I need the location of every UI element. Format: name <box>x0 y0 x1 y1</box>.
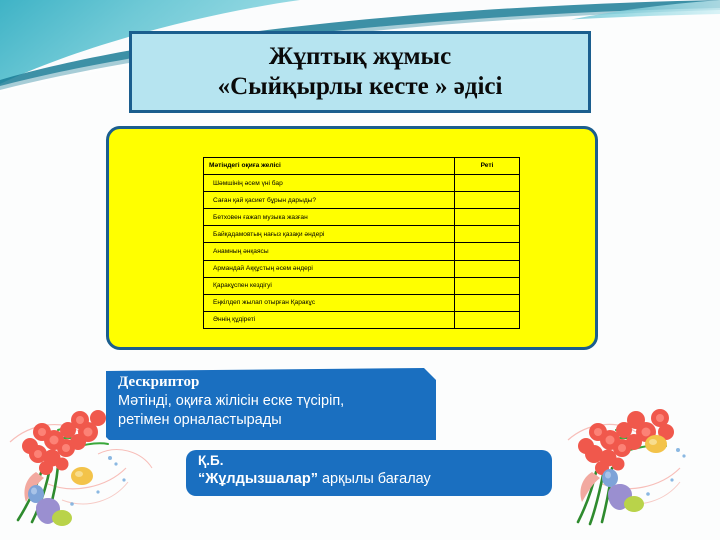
cell-event: Байқадамовтың нағыз қазақи әндері <box>204 226 455 243</box>
evaluation-rest: арқылы бағалау <box>318 471 431 487</box>
descriptor-title: Дескриптор <box>118 373 426 392</box>
table-body: Шәмшінің әсем үні бар Саған қай қасиет б… <box>204 175 520 329</box>
descriptor-line-1: Мәтінді, оқиға жілісін еске түсіріп, <box>118 392 418 411</box>
cell-order-input[interactable] <box>455 294 520 311</box>
cell-order-input[interactable] <box>455 277 520 294</box>
evaluation-text: “Жұлдызшалар” арқылы бағалау <box>198 470 552 488</box>
cell-event: Анамның әнқаясы <box>204 243 455 260</box>
table-row[interactable]: Армандай Аққұстың әсем әндері <box>204 260 520 277</box>
slide-title-box: Жұптық жұмыс «Сыйқырлы кесте » әдісі <box>129 31 591 113</box>
cell-event: Еңкілдеп жылап отырған Қаракұс <box>204 294 455 311</box>
descriptor-line-2: ретімен орналастырады <box>118 411 418 430</box>
table-head: Мәтіндегі оқиға желісі Реті <box>204 158 520 175</box>
slide-title-line-1: Жұптық жұмыс <box>269 42 451 73</box>
table-row[interactable]: Анамның әнқаясы <box>204 243 520 260</box>
table-header-row: Мәтіндегі оқиға желісі Реті <box>204 158 520 175</box>
flower-bouquet-bottom-right <box>562 406 720 540</box>
cell-order-input[interactable] <box>455 311 520 328</box>
slide-title-line-2: «Сыйқырлы кесте » әдісі <box>218 72 503 103</box>
column-header-event: Мәтіндегі оқиға желісі <box>204 158 455 175</box>
table-row[interactable]: Шәмшінің әсем үні бар <box>204 175 520 192</box>
cell-event: Саған қай қасиет бұрын дарыды? <box>204 192 455 209</box>
table-row[interactable]: Байқадамовтың нағыз қазақи әндері <box>204 226 520 243</box>
cell-order-input[interactable] <box>455 209 520 226</box>
cell-order-input[interactable] <box>455 260 520 277</box>
flower-bouquet-icon <box>562 406 720 540</box>
cell-order-input[interactable] <box>455 175 520 192</box>
cell-order-input[interactable] <box>455 226 520 243</box>
event-sequence-table: Мәтіндегі оқиға желісі Реті Шәмшінің әсе… <box>203 157 520 329</box>
content-panel: Мәтіндегі оқиға желісі Реті Шәмшінің әсе… <box>106 126 598 350</box>
table-row[interactable]: Бетховен ғажап музыка жазған <box>204 209 520 226</box>
slide-canvas: Жұптық жұмыс «Сыйқырлы кесте » әдісі Мәт… <box>0 0 720 540</box>
cell-event: Қаракұспен кездігуі <box>204 277 455 294</box>
cell-event: Бетховен ғажап музыка жазған <box>204 209 455 226</box>
cell-event: Армандай Аққұстың әсем әндері <box>204 260 455 277</box>
cell-order-input[interactable] <box>455 243 520 260</box>
descriptor-callout: Дескриптор Мәтінді, оқиға жілісін еске т… <box>106 368 436 440</box>
table-row[interactable]: Еңкілдеп жылап отырған Қаракұс <box>204 294 520 311</box>
table-row[interactable]: Әннің құдіреті <box>204 311 520 328</box>
evaluation-title: Қ.Б. <box>198 453 552 470</box>
cell-event: Шәмшінің әсем үні бар <box>204 175 455 192</box>
table-row[interactable]: Қаракұспен кездігуі <box>204 277 520 294</box>
cell-order-input[interactable] <box>455 192 520 209</box>
cell-event: Әннің құдіреті <box>204 311 455 328</box>
table-row[interactable]: Саған қай қасиет бұрын дарыды? <box>204 192 520 209</box>
column-header-order: Реті <box>455 158 520 175</box>
evaluation-quoted-term: “Жұлдызшалар” <box>198 471 318 487</box>
evaluation-callout: Қ.Б. “Жұлдызшалар” арқылы бағалау <box>186 450 552 496</box>
